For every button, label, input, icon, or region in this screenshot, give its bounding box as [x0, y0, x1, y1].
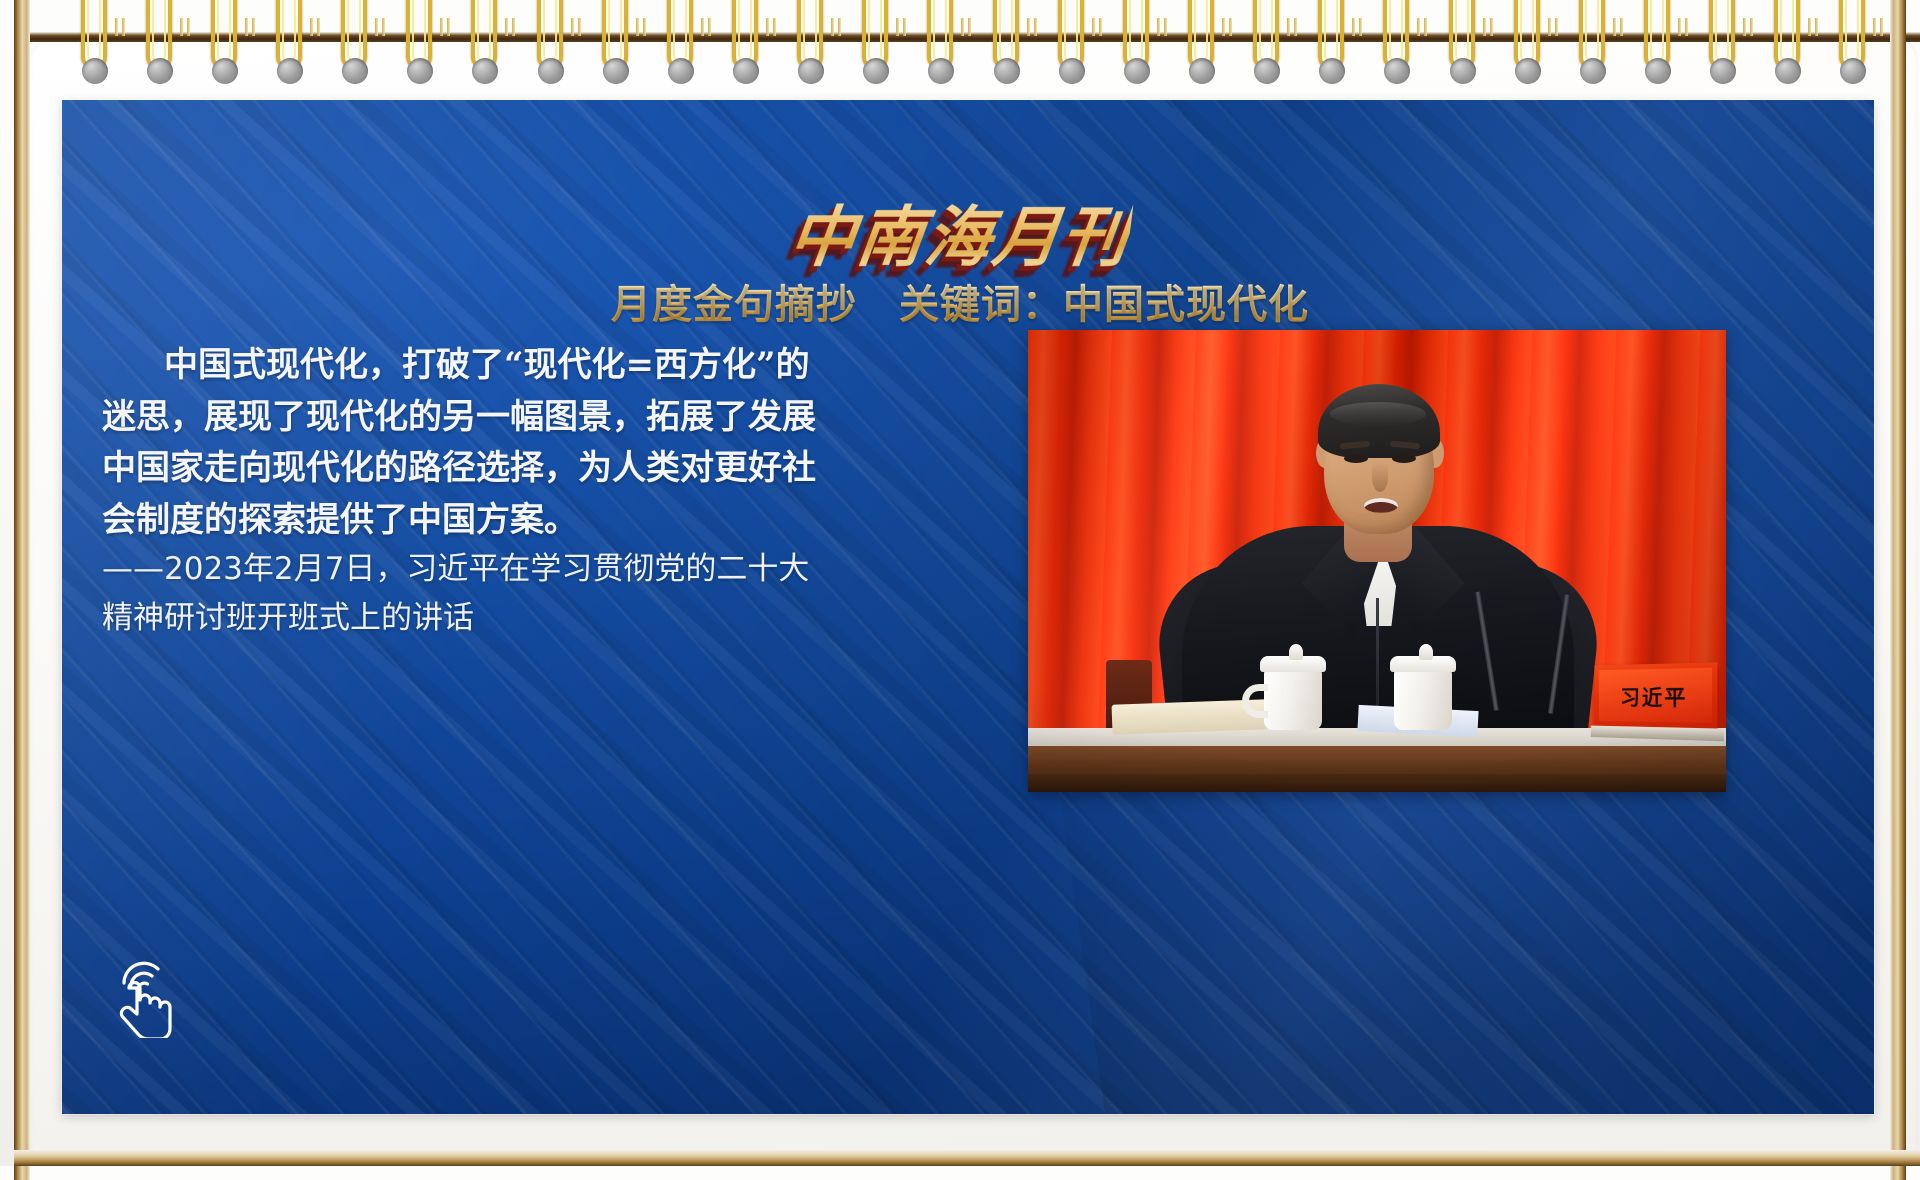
ring-tick — [708, 18, 711, 36]
ring-tick — [1750, 18, 1753, 36]
ring-tick — [1164, 18, 1167, 36]
ring-tick — [317, 18, 320, 36]
ring-tick — [180, 18, 183, 36]
ring-tick — [1027, 18, 1030, 36]
page-title: 中南海月刊 — [14, 184, 1906, 280]
ring-tick — [578, 18, 581, 36]
ring-tick — [1229, 18, 1232, 36]
ring-tick — [1287, 18, 1290, 36]
ring-tick — [1359, 18, 1362, 36]
ring-tick — [382, 18, 385, 36]
ring-tick — [187, 18, 190, 36]
quote-attribution: ——2023年2月7日，习近平在学习贯彻党的二十大精神研讨班开班式上的讲话 — [102, 545, 832, 643]
ring-tick — [310, 18, 313, 36]
ring-tick — [1685, 18, 1688, 36]
ring-tick — [1417, 18, 1420, 36]
ring-tick — [1613, 18, 1616, 36]
tap-hand-icon[interactable] — [106, 952, 180, 1038]
photo-vignette — [1028, 330, 1726, 792]
ring-tick — [831, 18, 834, 36]
notebook-page: 中南海月刊 月度金句摘抄 关键词：中国式现代化 中国式现代化，打破了“现代化=西… — [0, 0, 1920, 1180]
ring-tick — [1620, 18, 1623, 36]
ring-tick — [1808, 18, 1811, 36]
ring-tick — [571, 18, 574, 36]
ring-tick — [1222, 18, 1225, 36]
ring-tick — [1099, 18, 1102, 36]
ring-tick — [766, 18, 769, 36]
ring-tick — [505, 18, 508, 36]
subtitle-section-label: 月度金句摘抄 — [611, 272, 857, 330]
ring-tick — [447, 18, 450, 36]
ring-tick — [968, 18, 971, 36]
ring-tick — [1873, 18, 1876, 36]
ring-tick — [1157, 18, 1160, 36]
ring-tick — [115, 18, 118, 36]
ring-tick — [122, 18, 125, 36]
ring-tick — [375, 18, 378, 36]
page-title-text: 中南海月刊 — [784, 184, 1136, 280]
ring-tick — [701, 18, 704, 36]
ring-tick — [1678, 18, 1681, 36]
ring-tick — [252, 18, 255, 36]
ring-tick — [1352, 18, 1355, 36]
speaker-photo: 习近平 — [1028, 330, 1726, 792]
ring-tick — [961, 18, 964, 36]
ring-tick — [1092, 18, 1095, 36]
ring-tick — [1294, 18, 1297, 36]
ring-tick — [773, 18, 776, 36]
ring-tick — [1880, 18, 1883, 36]
ring-tick — [1815, 18, 1818, 36]
subtitle-keyword-label: 关键词：中国式现代化 — [899, 272, 1309, 330]
page-subtitle: 月度金句摘抄 关键词：中国式现代化 — [14, 272, 1906, 330]
ring-tick — [440, 18, 443, 36]
ring-tick — [636, 18, 639, 36]
ring-tick — [1490, 18, 1493, 36]
frame-left-edge — [14, 0, 30, 1180]
ring-tick — [1555, 18, 1558, 36]
ring-tick — [1483, 18, 1486, 36]
quote-body: 中国式现代化，打破了“现代化=西方化”的迷思，展现了现代化的另一幅图景，拓展了发… — [102, 340, 822, 547]
ring-tick — [643, 18, 646, 36]
ring-tick — [903, 18, 906, 36]
ring-tick — [1548, 18, 1551, 36]
ring-tick — [896, 18, 899, 36]
ring-tick — [1424, 18, 1427, 36]
ring-tick — [512, 18, 515, 36]
ring-tick — [1743, 18, 1746, 36]
ring-tick — [245, 18, 248, 36]
ring-tick — [1034, 18, 1037, 36]
ring-tick — [838, 18, 841, 36]
